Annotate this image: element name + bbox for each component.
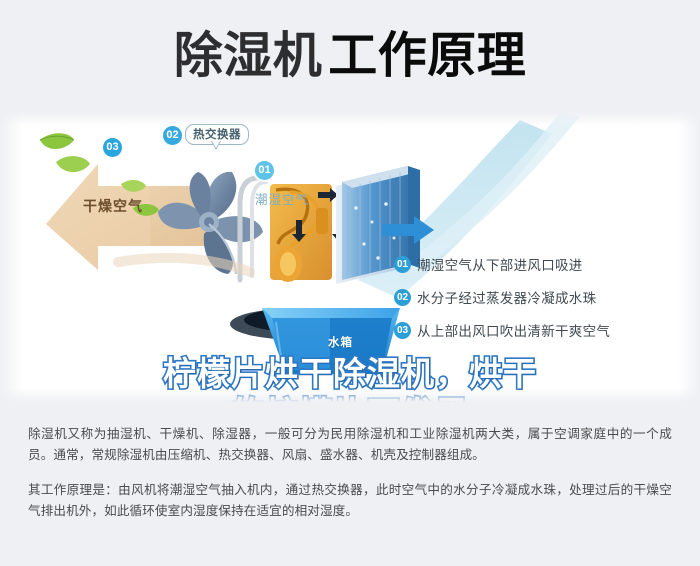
page-title: 除湿机工作原理 (0, 0, 700, 112)
legend-item: 03 从上部出风口吹出清新干爽空气 (394, 320, 610, 340)
label-water-tank: 水箱 (328, 334, 353, 350)
page-title-secondary: 工作原理 (328, 29, 526, 83)
body-copy: 除湿机又称为抽湿机、干燥机、除湿器，一般可分为民用除湿机和工业除湿机两大类，属于… (0, 402, 700, 566)
label-dry-air: 干燥空气 (83, 196, 143, 216)
dehumidifier-diagram: 03 02 01 干燥空气 潮湿空气 水箱 热交换器 01 潮湿空气从下部进风口… (0, 112, 700, 402)
badge-heat-exchanger: 02 (163, 126, 182, 145)
callout-tail-icon (211, 141, 221, 150)
legend-text: 潮湿空气从下部进风口吸进 (417, 254, 583, 274)
page-title-primary: 除湿机 (174, 29, 323, 83)
page-title-text: 除湿机工作原理 (174, 32, 527, 81)
legend-number: 03 (394, 322, 411, 339)
body-paragraph-1: 除湿机又称为抽湿机、干燥机、除湿器，一般可分为民用除湿机和工业除湿机两大类，属于… (28, 424, 672, 466)
legend-item: 02 水分子经过蒸发器冷凝成水珠 (394, 287, 610, 307)
label-humid-air: 潮湿空气 (255, 189, 309, 208)
badge-dry-air: 03 (103, 138, 122, 157)
legend-text: 从上部出风口吹出清新干爽空气 (417, 320, 610, 340)
legend-number: 01 (394, 256, 411, 273)
legend-number: 02 (394, 289, 411, 306)
body-paragraph-2: 其工作原理是：由风机将潮湿空气抽入机内，通过热交换器，此时空气中的水分子冷凝成水… (28, 480, 672, 522)
badge-humid-air: 01 (255, 161, 274, 180)
page-root: 除湿机工作原理 (0, 0, 700, 566)
callout-heat-exchanger: 热交换器 (185, 124, 249, 145)
legend-item: 01 潮湿空气从下部进风口吸进 (394, 254, 610, 274)
legend-text: 水分子经过蒸发器冷凝成水珠 (417, 287, 596, 307)
diagram-legend: 01 潮湿空气从下部进风口吸进 02 水分子经过蒸发器冷凝成水珠 03 从上部出… (394, 254, 610, 340)
